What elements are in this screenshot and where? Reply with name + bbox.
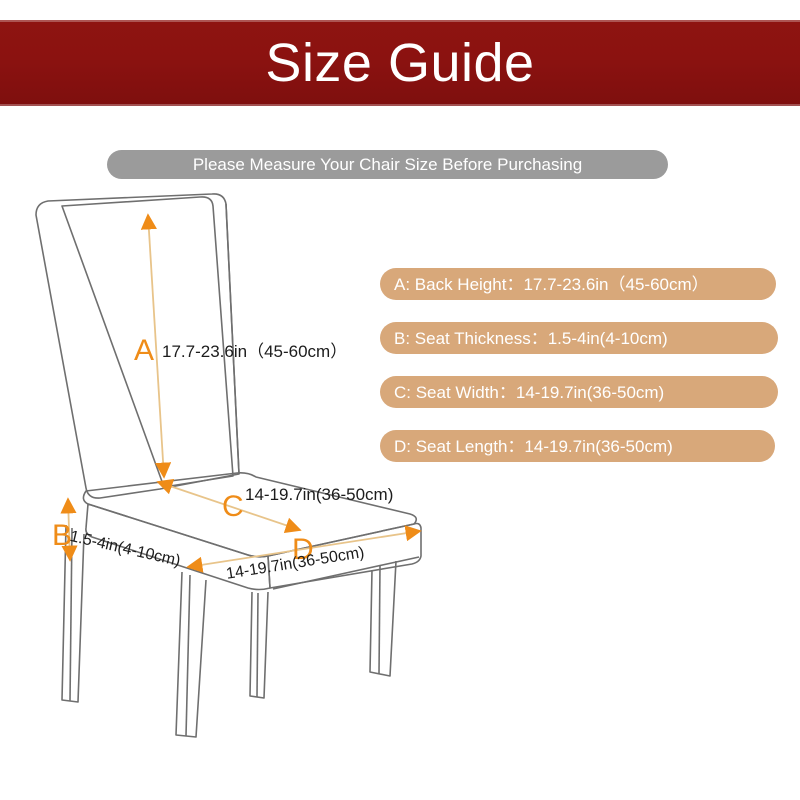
chair-leg-rear-left-seam <box>70 528 72 701</box>
header-band: Size Guide <box>0 20 800 106</box>
chair-leg-front-left-seam <box>186 575 190 736</box>
legend-item-seat-width: C: Seat Width：14-19.7in(36-50cm) <box>380 376 778 408</box>
legend-item-label: A: Back Height：17.7-23.6in（45-60cm） <box>394 276 709 293</box>
chair-outline <box>36 194 421 737</box>
chair-leg-front-right-seam <box>379 566 380 674</box>
dimension-letter-a: A <box>134 336 154 366</box>
dimension-value-a: 17.7-23.6in（45-60cm） <box>162 343 347 360</box>
legend-item-label: D: Seat Length：14-19.7in(36-50cm) <box>394 438 673 455</box>
dimension-arrows <box>68 215 420 567</box>
legend-item-seat-length: D: Seat Length：14-19.7in(36-50cm) <box>380 430 775 462</box>
chair-back-right-edge <box>226 204 239 474</box>
chair-leg-front-left <box>176 572 206 737</box>
legend-item-label: B: Seat Thickness：1.5-4in(4-10cm) <box>394 330 668 347</box>
dimension-value-b: 1.5-4in(4-10cm) <box>68 528 182 570</box>
legend-item-label: C: Seat Width：14-19.7in(36-50cm) <box>394 384 664 401</box>
legend-item-back-height: A: Back Height：17.7-23.6in（45-60cm） <box>380 268 776 300</box>
chair-leg-rear-right <box>250 592 268 698</box>
dimension-letter-c: C <box>222 492 244 522</box>
dimension-value-c: 14-19.7in(36-50cm) <box>245 486 393 503</box>
subtitle-pill: Please Measure Your Chair Size Before Pu… <box>107 150 668 179</box>
chair-leg-rear-right-seam <box>257 593 258 697</box>
chair-leg-front-right <box>370 561 396 676</box>
subtitle-text: Please Measure Your Chair Size Before Pu… <box>193 156 582 173</box>
page-title: Size Guide <box>265 36 534 90</box>
legend-item-seat-thickness: B: Seat Thickness：1.5-4in(4-10cm) <box>380 322 778 354</box>
